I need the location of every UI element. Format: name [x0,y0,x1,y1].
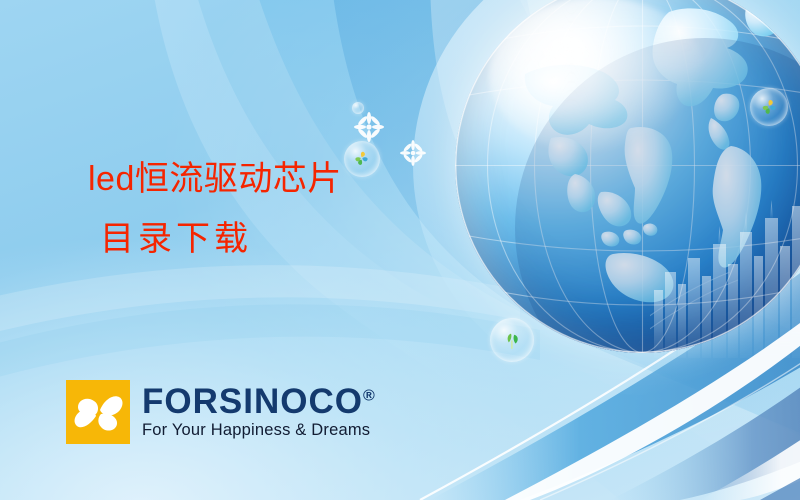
brand-logo: FORSINOCO® For Your Happiness & Dreams [66,380,376,444]
headline-line-1: led恒流驱动芯片 [88,160,342,198]
brand-name: FORSINOCO® [142,384,376,420]
marketing-banner: led恒流驱动芯片 目录下载 FORSINOCO® For Your Happi… [0,0,800,500]
headline-line-2: 目录下载 [100,222,508,256]
sparkle-star-1 [354,112,384,142]
page-title: led恒流驱动芯片 目录下载 [88,162,508,256]
forsinoco-pinwheel-mark [66,380,130,444]
brand-tagline: For Your Happiness & Dreams [142,421,376,440]
pinwheel-icon [757,96,781,119]
brand-name-text: FORSINOCO [142,382,363,421]
bubble-leaf-lower [490,318,534,362]
city-skyline-silhouette [650,198,800,358]
bubble-edge-right [750,88,788,126]
leaf-icon [498,327,526,353]
brand-wordmark: FORSINOCO® For Your Happiness & Dreams [142,384,376,441]
registered-trademark-symbol: ® [363,387,376,404]
bubble-small-upper [352,102,364,114]
